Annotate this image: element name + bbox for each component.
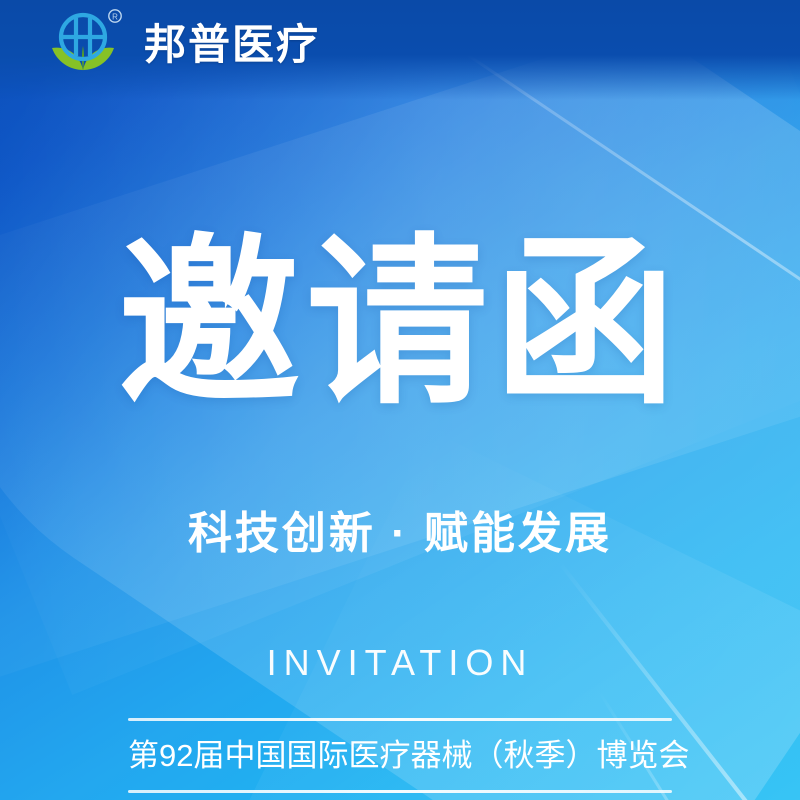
footer-block: 第92届中国国际医疗器械（秋季）博览会 — [128, 718, 672, 793]
svg-text:R: R — [112, 12, 118, 21]
poster-subtitle: 科技创新 · 赋能发展 — [0, 505, 800, 562]
brand-lockup: R 邦普医疗 — [40, 8, 320, 88]
page-title: 邀请函 — [0, 232, 800, 414]
divider-bottom — [128, 790, 672, 793]
poster-content: 邀请函 科技创新 · 赋能发展 INVITATION — [0, 0, 800, 800]
invitation-english-label: INVITATION — [0, 645, 800, 681]
invitation-poster: R 邦普医疗 邀请函 科技创新 · 赋能发展 INVITATION 第92届中国… — [0, 0, 800, 800]
bpump-logo-icon: R — [40, 8, 126, 88]
event-name: 第92届中国国际医疗器械（秋季）博览会 — [128, 721, 672, 790]
brand-name: 邦普医疗 — [144, 24, 320, 72]
